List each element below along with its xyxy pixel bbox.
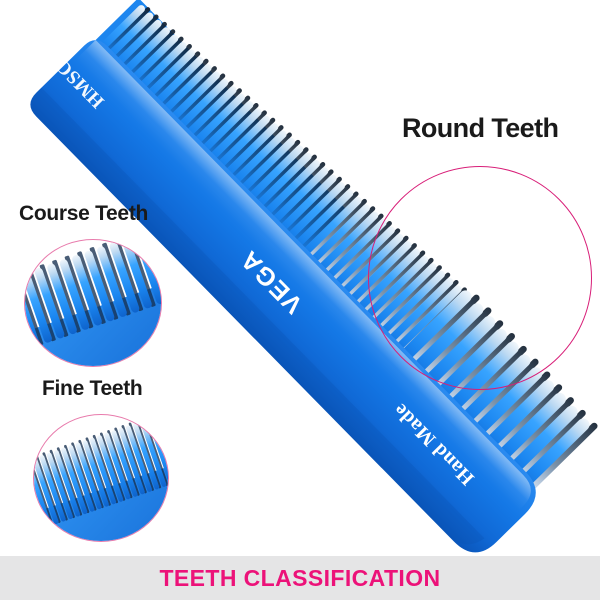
infographic-canvas: HMSC-09D VEGA Hand Made Course Teeth Fin…	[0, 0, 600, 600]
banner-title: TEETH CLASSIFICATION	[159, 565, 440, 592]
course-teeth-label: Course Teeth	[19, 202, 148, 226]
bottom-banner: TEETH CLASSIFICATION	[0, 556, 600, 600]
round-teeth-label: Round Teeth	[402, 113, 558, 144]
fine-teeth-magnifier	[33, 414, 169, 542]
course-teeth-detail	[25, 240, 161, 366]
fine-teeth-detail	[34, 415, 168, 541]
fine-teeth-label: Fine Teeth	[42, 377, 142, 401]
course-teeth-magnifier	[24, 239, 162, 367]
